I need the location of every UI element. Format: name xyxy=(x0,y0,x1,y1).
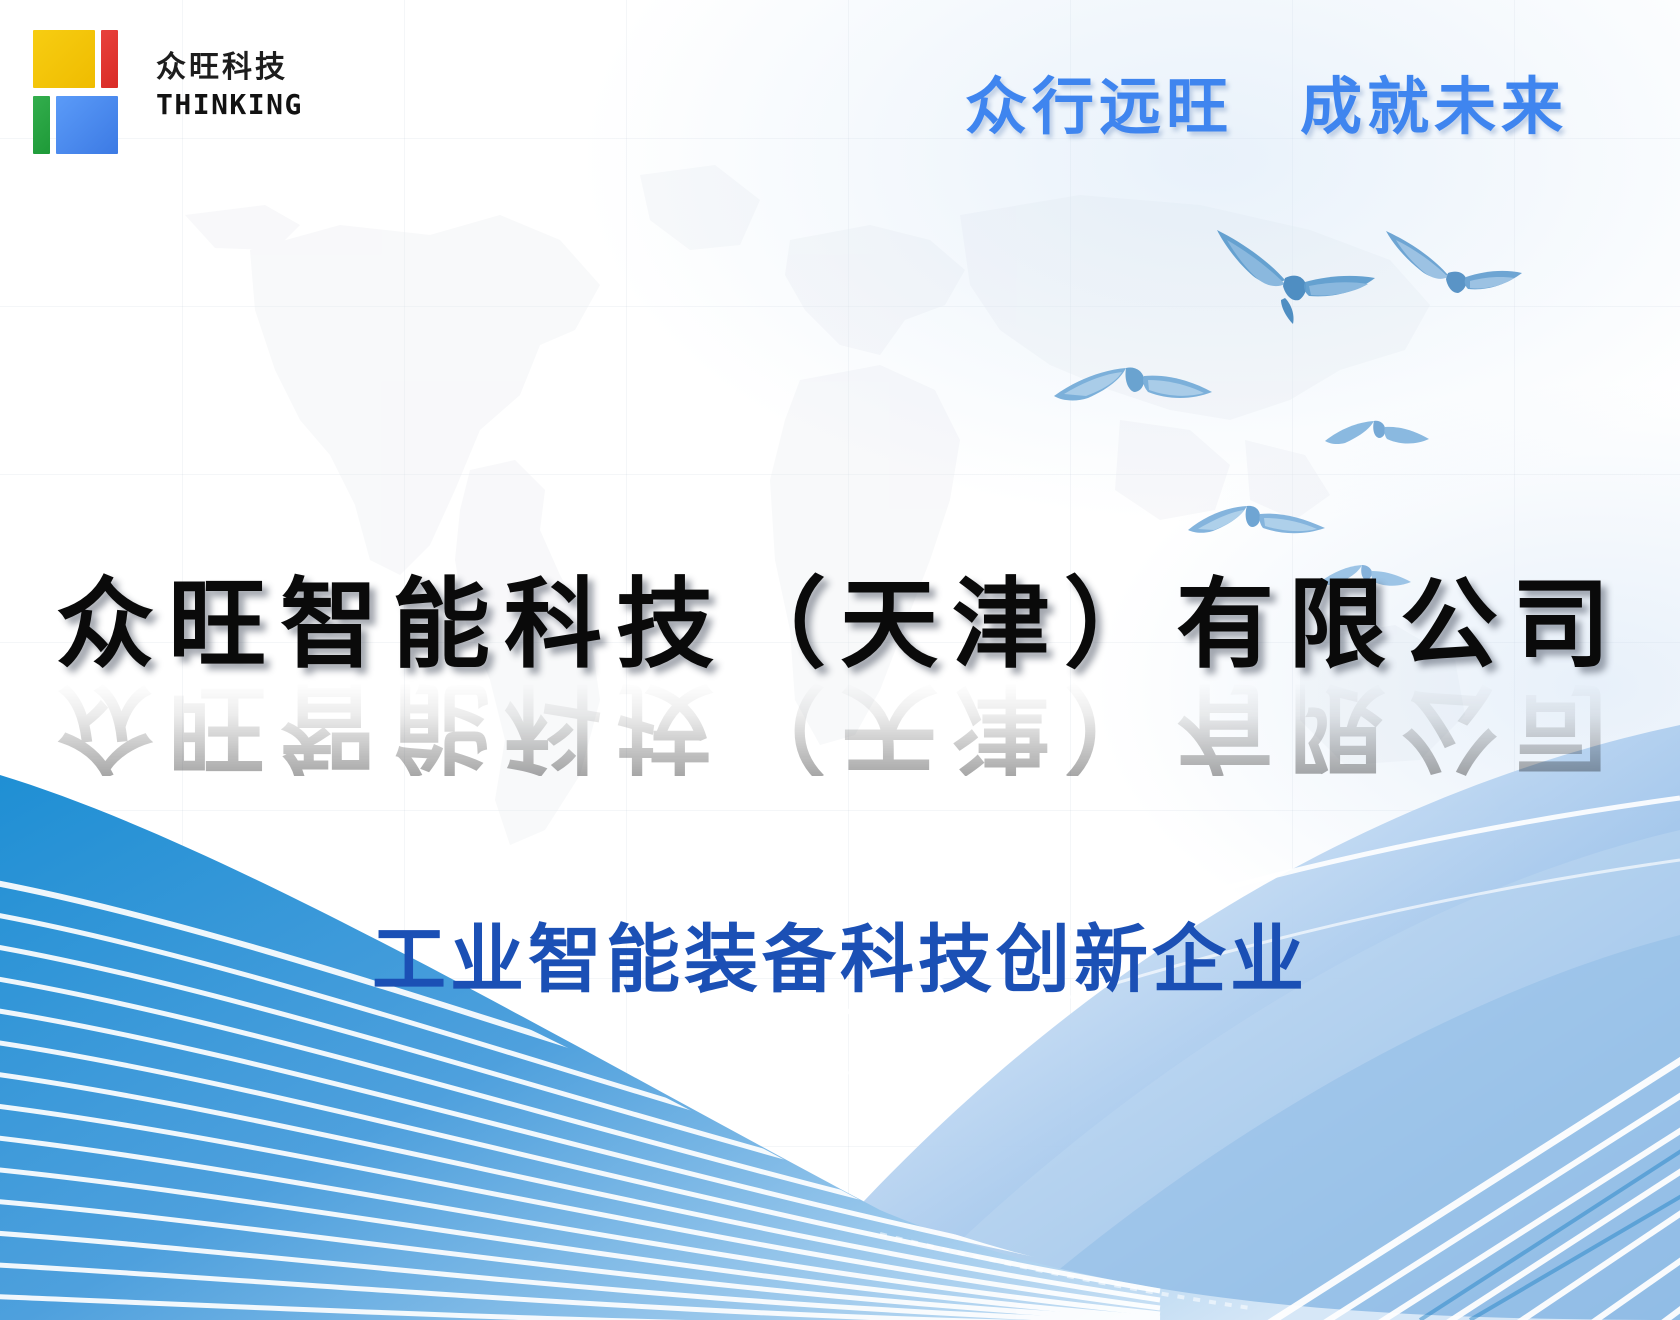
yellow-block-icon xyxy=(33,30,95,88)
blue-block-icon xyxy=(56,96,118,154)
bird-1-large-upper-left-icon xyxy=(1205,222,1385,332)
green-block-icon xyxy=(33,96,50,154)
bird-5-lower-left-icon xyxy=(1185,498,1330,564)
company-title: 众旺智能科技（天津）有限公司 xyxy=(0,576,1680,674)
logo-wordmark: 众旺科技 THINKING xyxy=(156,30,303,119)
bird-4-small-right-icon xyxy=(1322,415,1432,467)
company-title-block: 众旺智能科技（天津）有限公司 众旺智能科技（天津）有限公司 xyxy=(0,576,1680,776)
logo-english-name: THINKING xyxy=(156,90,303,119)
bird-3-middle-icon xyxy=(1050,358,1220,438)
logo-chinese-name: 众旺科技 xyxy=(156,52,303,84)
red-block-icon xyxy=(101,30,118,88)
bird-2-upper-right-icon xyxy=(1378,225,1528,315)
logo-color-blocks xyxy=(33,30,118,162)
presentation-slide: 众旺科技 THINKING 众行远旺 成就未来 xyxy=(0,0,1680,1320)
company-logo[interactable]: 众旺科技 THINKING xyxy=(33,30,303,162)
slide-header: 众旺科技 THINKING 众行远旺 成就未来 xyxy=(0,0,1680,180)
company-subtitle: 工业智能装备科技创新企业 xyxy=(0,900,1680,1007)
company-title-reflection: 众旺智能科技（天津）有限公司 xyxy=(0,678,1680,776)
header-tagline: 众行远旺 成就未来 xyxy=(965,56,1568,146)
